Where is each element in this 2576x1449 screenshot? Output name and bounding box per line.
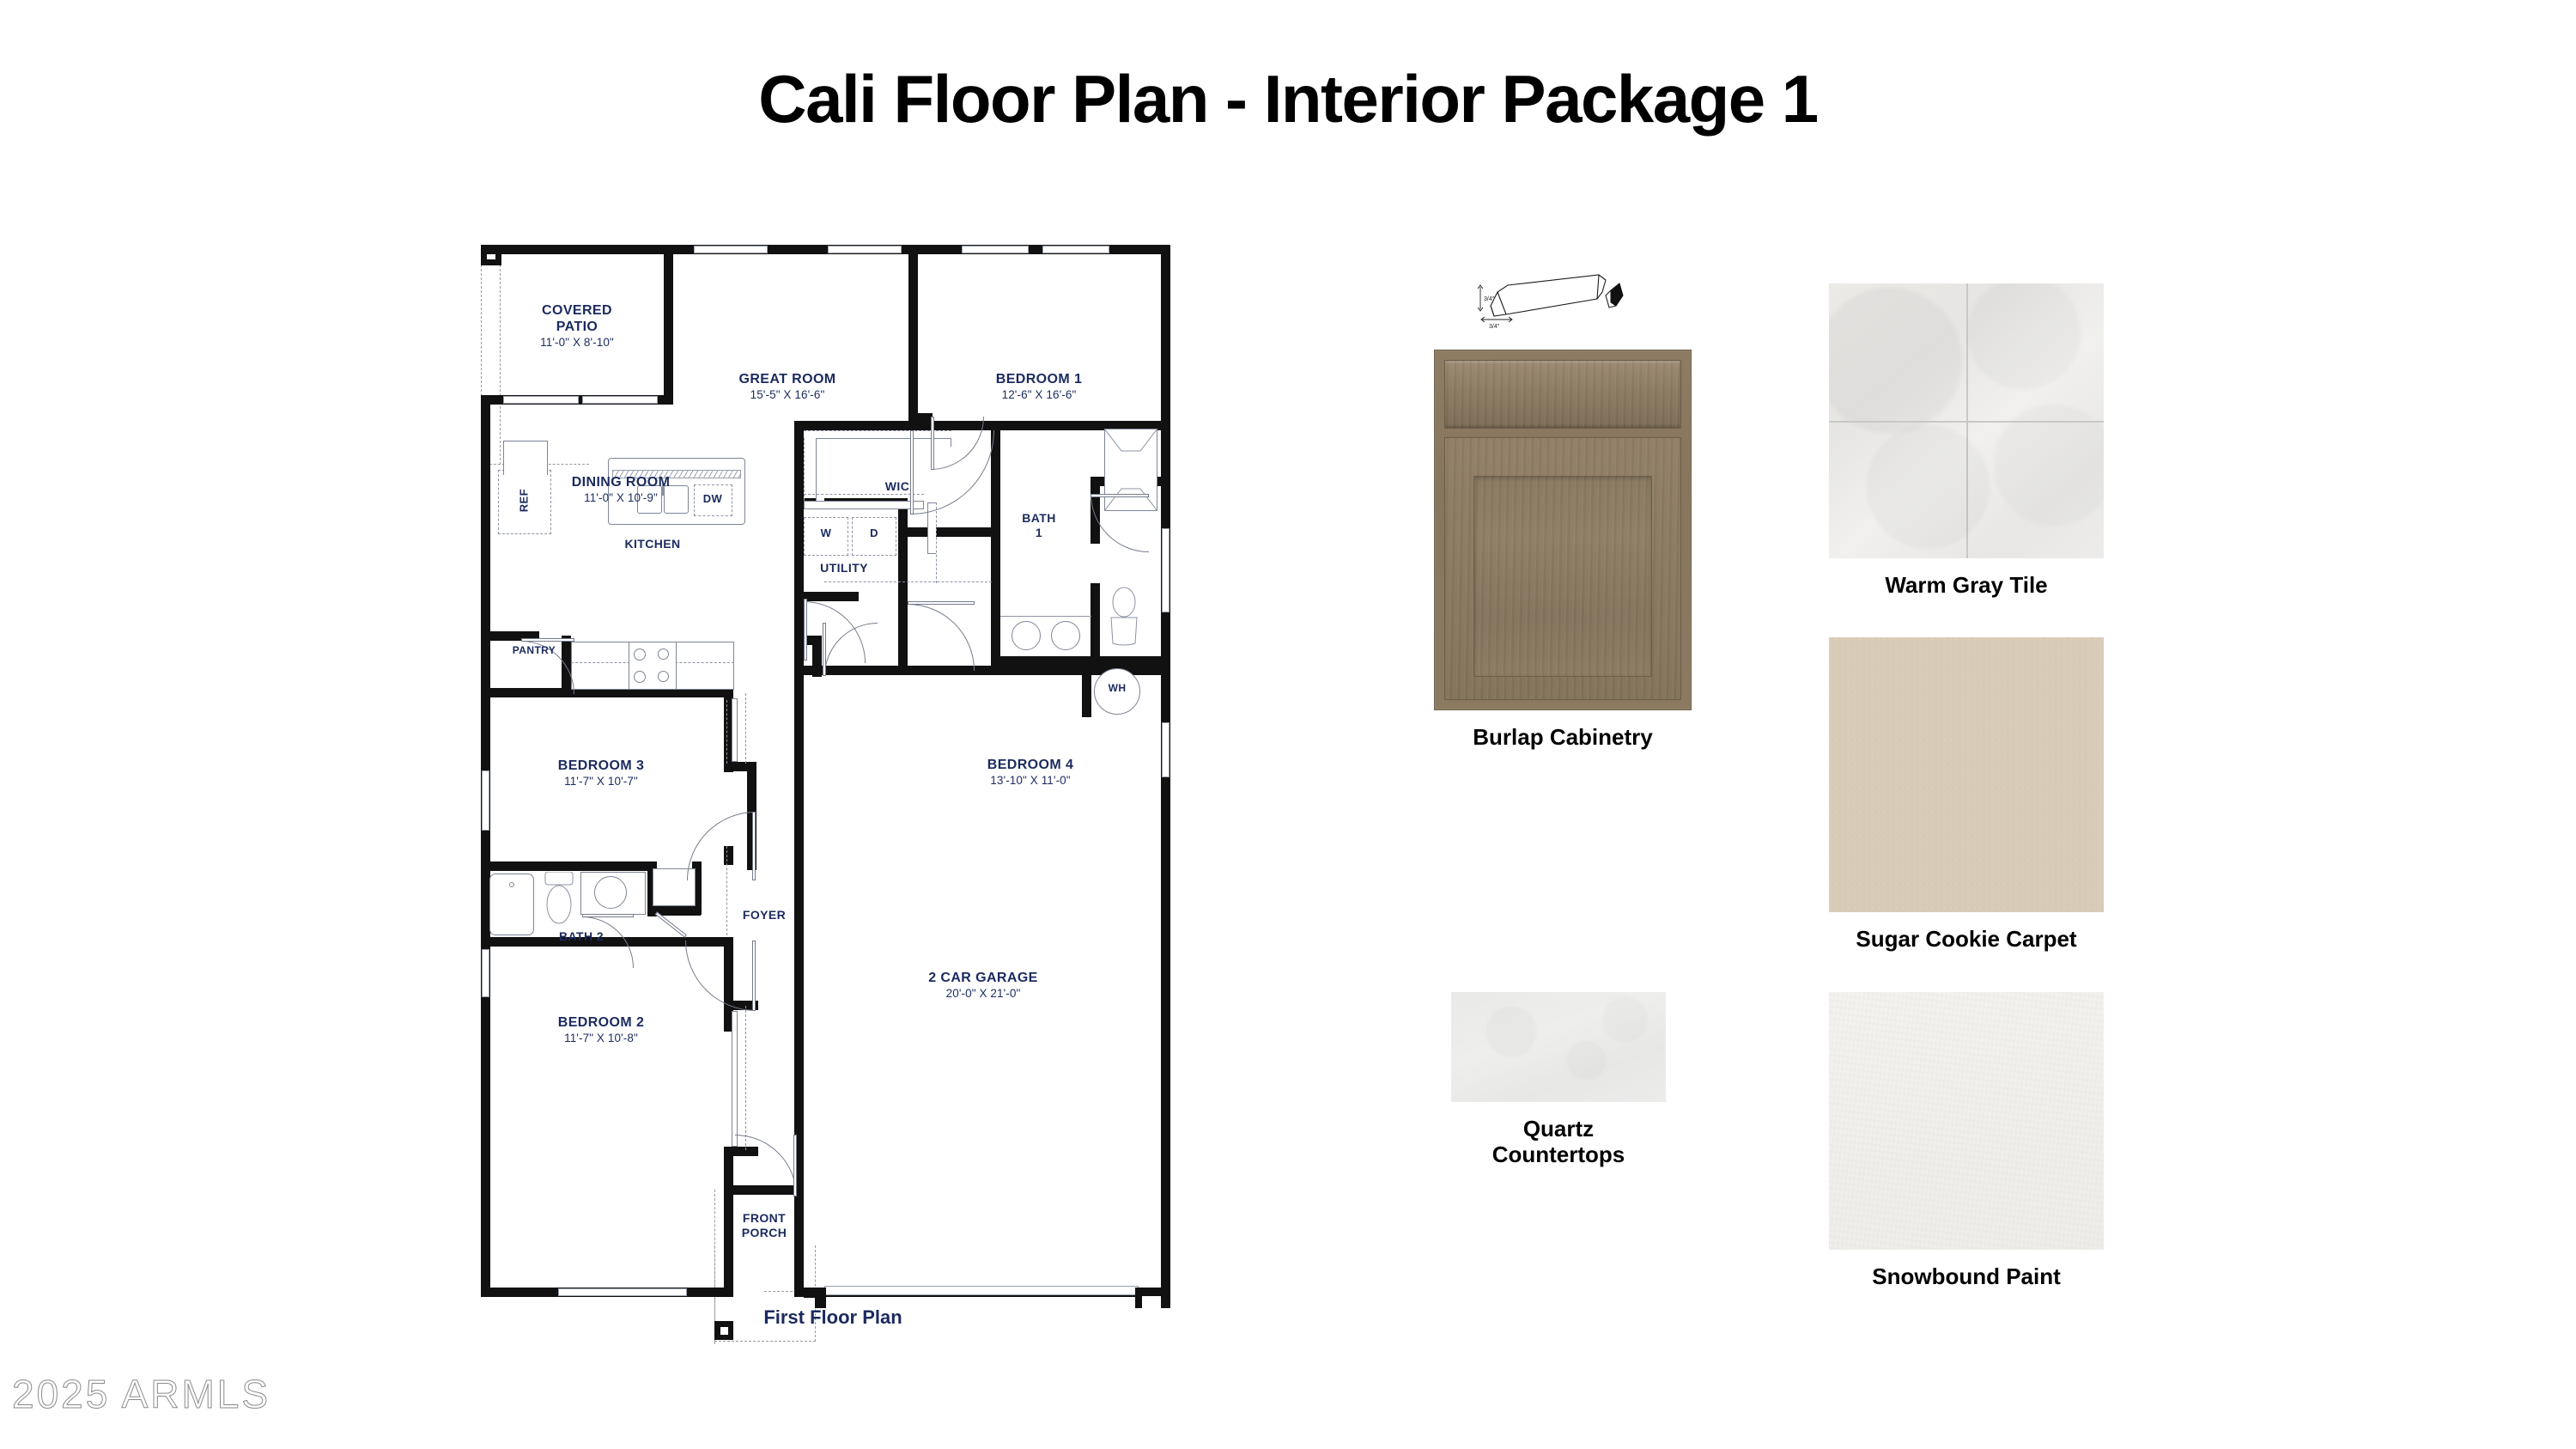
svg-text:3/4": 3/4" bbox=[1484, 296, 1495, 302]
bedroom3-door-leaf bbox=[752, 812, 756, 880]
bath2-door-leaf bbox=[582, 914, 634, 917]
wic-shelf-bottom bbox=[804, 501, 924, 509]
bedroom3-door-arc bbox=[687, 812, 756, 880]
wic-hall-dash-h bbox=[824, 581, 992, 582]
bedroom4-door-leaf bbox=[908, 601, 975, 605]
wall-bedroom2-right-vert bbox=[724, 1147, 733, 1297]
pantry-door-leaf bbox=[521, 638, 574, 642]
bedroom2-door-leaf bbox=[752, 941, 756, 1011]
patio-dashed-outline bbox=[481, 252, 589, 465]
room-label-bath-2: BATH 2 bbox=[559, 929, 604, 944]
bath2-tub-drain bbox=[509, 882, 514, 887]
swatch-quartz-countertops[interactable]: QuartzCountertops bbox=[1451, 992, 1666, 1167]
foyer-opening-dash-b bbox=[726, 700, 727, 764]
room-label-covered-patio: COVEREDPATIO 11'-0" X 8'-10" bbox=[540, 303, 614, 350]
wic-shelf-dash-bottom bbox=[804, 494, 924, 495]
bath1-toilet bbox=[1106, 587, 1142, 647]
wall-wic-bath1-lower bbox=[991, 545, 1000, 666]
room-label-garage: 2 CAR GARAGE 20'-0" X 21'-0" bbox=[928, 971, 1037, 1001]
bath1-sink-right bbox=[1051, 621, 1080, 650]
sugar-cookie-carpet-sample bbox=[1829, 637, 2104, 912]
cabinet-door-center-panel bbox=[1473, 476, 1652, 677]
room-label-bath-1: BATH1 bbox=[1022, 511, 1055, 539]
room-label-dining-room: DINING ROOM 11'-0" X 10'-9" bbox=[572, 475, 671, 505]
exterior-wall-porch-right bbox=[794, 1185, 804, 1297]
wall-bath1-bottom bbox=[991, 656, 1170, 666]
window-bath1-east bbox=[1162, 528, 1170, 612]
room-label-bedroom-1: BEDROOM 1 12'-6" X 16'-6" bbox=[996, 372, 1083, 402]
window-bedroom1-north-b bbox=[1042, 246, 1109, 253]
bath2-sink bbox=[594, 876, 627, 909]
garage-man-door-leaf bbox=[823, 623, 826, 676]
window-bath2-west bbox=[482, 949, 489, 997]
bedroom3-closet-bypass-a bbox=[732, 698, 738, 762]
window-bedroom3-west bbox=[482, 770, 489, 831]
wic-shelf-left-vert bbox=[816, 438, 824, 505]
patio-slider-b bbox=[582, 396, 658, 404]
first-floor-plan-caption: First Floor Plan bbox=[481, 1306, 1185, 1329]
swatch-sugar-cookie-carpet[interactable]: Sugar Cookie Carpet bbox=[1812, 637, 2121, 952]
room-label-wic: WIC bbox=[885, 479, 909, 494]
utility-door-leaf bbox=[804, 599, 807, 661]
room-label-utility: UTILITY bbox=[820, 561, 868, 575]
window-bedroom1-north-a bbox=[962, 246, 1029, 253]
wic-shelf-dash-left bbox=[804, 438, 805, 505]
cooktop-burner-1 bbox=[634, 648, 646, 661]
bath2-toilet bbox=[541, 872, 577, 928]
front-door-leaf bbox=[793, 1135, 797, 1196]
wall-hall-bedroom4 bbox=[898, 592, 908, 674]
room-label-pantry: PANTRY bbox=[513, 644, 556, 656]
room-label-bedroom-4: BEDROOM 4 13'-10" X 11'-0" bbox=[987, 758, 1074, 788]
bath1-toilet-door-leaf bbox=[1091, 494, 1149, 497]
bedroom1-door-leaf bbox=[931, 417, 934, 470]
cooktop-burner-2 bbox=[658, 648, 669, 660]
room-label-foyer: FOYER bbox=[743, 908, 786, 922]
bedroom4-door-arc bbox=[908, 604, 975, 671]
wic-door-leaf bbox=[910, 430, 914, 514]
garage-door bbox=[824, 1286, 1139, 1295]
wall-wic-bottom bbox=[898, 527, 993, 537]
room-label-great-room: GREAT ROOM 15'-5" X 16'-6" bbox=[738, 372, 835, 402]
room-label-kitchen: KITCHEN bbox=[624, 537, 680, 551]
foyer-opening-dash-a bbox=[726, 846, 727, 935]
warm-gray-tile-sample bbox=[1829, 283, 2104, 558]
bath1-sink-left bbox=[1012, 621, 1041, 650]
water-heater-label: WH bbox=[1109, 682, 1127, 694]
window-great-room-north-a bbox=[694, 246, 768, 253]
dryer-label: D bbox=[870, 527, 878, 539]
washer-label: W bbox=[821, 527, 832, 539]
watermark: 2025 ARMLS bbox=[12, 1371, 270, 1417]
wall-foyer-garage bbox=[794, 666, 804, 1190]
refrigerator-box bbox=[503, 441, 548, 475]
snowbound-paint-sample bbox=[1829, 992, 2104, 1250]
wall-wh-alcove bbox=[1082, 666, 1091, 717]
swatch-label-quartz-countertops: QuartzCountertops bbox=[1451, 1116, 1666, 1167]
svg-text:3/4": 3/4" bbox=[1489, 324, 1500, 330]
patio-dashed-guide bbox=[500, 252, 501, 465]
exterior-wall-left bbox=[481, 395, 490, 1297]
wall-greatroom-bedroom1 bbox=[908, 245, 918, 417]
crown-molding-sketch-icon: 3/4" 3/4" bbox=[1468, 266, 1657, 335]
window-great-room-north-b bbox=[828, 246, 902, 253]
window-bedroom4-east bbox=[1162, 722, 1170, 777]
bedroom2-closet-dash bbox=[745, 1006, 746, 1150]
swatch-label-snowbound-paint: Snowbound Paint bbox=[1812, 1263, 2121, 1289]
wic-hall-dash-v bbox=[936, 502, 937, 583]
bedroom2-closet-bypass-a bbox=[732, 1011, 738, 1147]
page-title: Cali Floor Plan - Interior Package 1 bbox=[0, 60, 2576, 138]
window-bedroom2-south bbox=[558, 1288, 687, 1296]
swatch-burlap-cabinetry[interactable]: 3/4" 3/4" Burlap Cabinetry bbox=[1400, 266, 1726, 750]
wall-bath2-top bbox=[481, 861, 657, 871]
swatch-warm-gray-tile[interactable]: Warm Gray Tile bbox=[1812, 283, 2121, 598]
wall-utility-right bbox=[898, 498, 908, 601]
swatch-label-burlap-cabinetry: Burlap Cabinetry bbox=[1400, 724, 1726, 750]
cooktop-burner-4 bbox=[658, 671, 669, 682]
floor-plan-page: Cali Floor Plan - Interior Package 1 bbox=[0, 0, 2576, 1449]
swatch-snowbound-paint[interactable]: Snowbound Paint bbox=[1812, 992, 2121, 1289]
floor-plan-drawing: WH DW bbox=[481, 245, 1185, 1361]
bedroom3-closet-dash bbox=[745, 693, 746, 764]
bedroom2-door-arc bbox=[685, 941, 756, 1011]
refrigerator-label: REF bbox=[517, 489, 530, 512]
exterior-wall-top-patio bbox=[481, 245, 673, 254]
bath1-vanity-counter bbox=[1000, 616, 1091, 617]
patio-wall-right bbox=[664, 245, 673, 405]
front-door-arc bbox=[735, 1135, 797, 1196]
cooktop-burner-3 bbox=[634, 671, 646, 683]
patio-slider-a bbox=[503, 396, 579, 404]
quartz-countertop-sample bbox=[1451, 992, 1666, 1102]
room-label-front-porch: FRONTPORCH bbox=[742, 1211, 787, 1239]
swatch-label-sugar-cookie-carpet: Sugar Cookie Carpet bbox=[1812, 926, 2121, 952]
swatch-label-warm-gray-tile: Warm Gray Tile bbox=[1812, 572, 2121, 598]
cabinet-drawer-front bbox=[1444, 360, 1681, 429]
room-label-bedroom-2: BEDROOM 2 11'-7" X 10'-8" bbox=[558, 1015, 645, 1045]
wall-bath1-toilet-lower bbox=[1091, 583, 1100, 666]
dishwasher-label: DW bbox=[703, 492, 722, 505]
room-label-bedroom-3: BEDROOM 3 11'-7" X 10'-7" bbox=[558, 758, 645, 788]
cabinet-door-frame bbox=[1444, 437, 1681, 700]
cabinet-door-sample bbox=[1434, 350, 1692, 710]
